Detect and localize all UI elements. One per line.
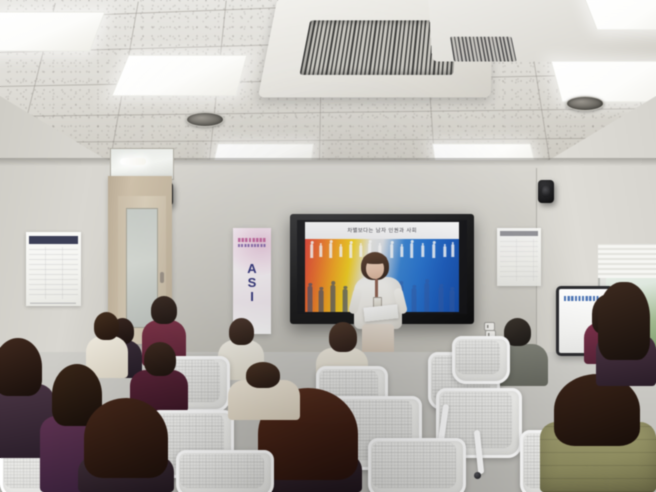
chair-mesh — [180, 454, 264, 488]
banner-header-line-1 — [238, 238, 267, 242]
wall-poster-right — [497, 228, 541, 286]
slide-title-text: 차별보다는 남자 인권과 사회 — [347, 227, 417, 234]
wall-ceiling-shadow — [0, 158, 656, 166]
banner-letter-i: I — [250, 290, 254, 303]
person-hair — [246, 362, 280, 388]
audience-person — [596, 282, 656, 386]
person-hair — [151, 296, 177, 324]
slide-title-bar: 차별보다는 남자 인권과 사회 — [305, 222, 459, 239]
person-hair — [94, 312, 119, 340]
chair-mesh — [456, 340, 500, 374]
ceiling-speaker-icon — [566, 96, 604, 111]
audience-chair[interactable] — [176, 450, 268, 492]
audience-person — [540, 374, 656, 492]
audience-chair[interactable] — [368, 438, 460, 492]
banner-letter-s: S — [248, 276, 257, 289]
person-hair — [598, 282, 650, 360]
ceiling-light-panel — [0, 12, 105, 52]
ceiling-speaker-icon — [186, 112, 224, 127]
wall-poster-left — [26, 232, 81, 306]
chair-wheel — [474, 472, 481, 479]
presenter-lanyard — [375, 279, 378, 299]
door-handle[interactable] — [160, 272, 164, 283]
air-conditioner-grille-secondary-icon — [450, 37, 517, 62]
wall-speaker-right-icon — [538, 180, 554, 203]
person-hair — [329, 322, 357, 352]
audience-person — [74, 398, 178, 492]
poster-content-grid — [500, 239, 538, 281]
poster-header-bar — [500, 231, 538, 236]
banner-letter-a: A — [247, 262, 256, 275]
seminar-room-photo: A S I 차별보다는 남자 인권과 사회 — [0, 0, 656, 492]
chair-mesh — [372, 442, 456, 488]
ceiling-light-panel — [551, 61, 656, 102]
presenter-fringe — [363, 254, 387, 264]
audience-person — [228, 362, 300, 420]
person-hair — [229, 318, 254, 345]
poster-footer-text — [30, 300, 76, 304]
ceiling-light-panel — [584, 0, 656, 30]
poster-header-bar — [29, 236, 78, 244]
person-hair — [144, 342, 176, 376]
audience-chair[interactable] — [452, 336, 504, 378]
banner-header-line-2 — [238, 244, 267, 247]
transom-light — [120, 158, 146, 165]
window-blind[interactable] — [598, 244, 656, 278]
person-hair — [0, 338, 42, 396]
poster-content-grid — [29, 247, 78, 299]
ceiling-light-panel — [111, 55, 247, 96]
person-hair — [84, 398, 168, 478]
